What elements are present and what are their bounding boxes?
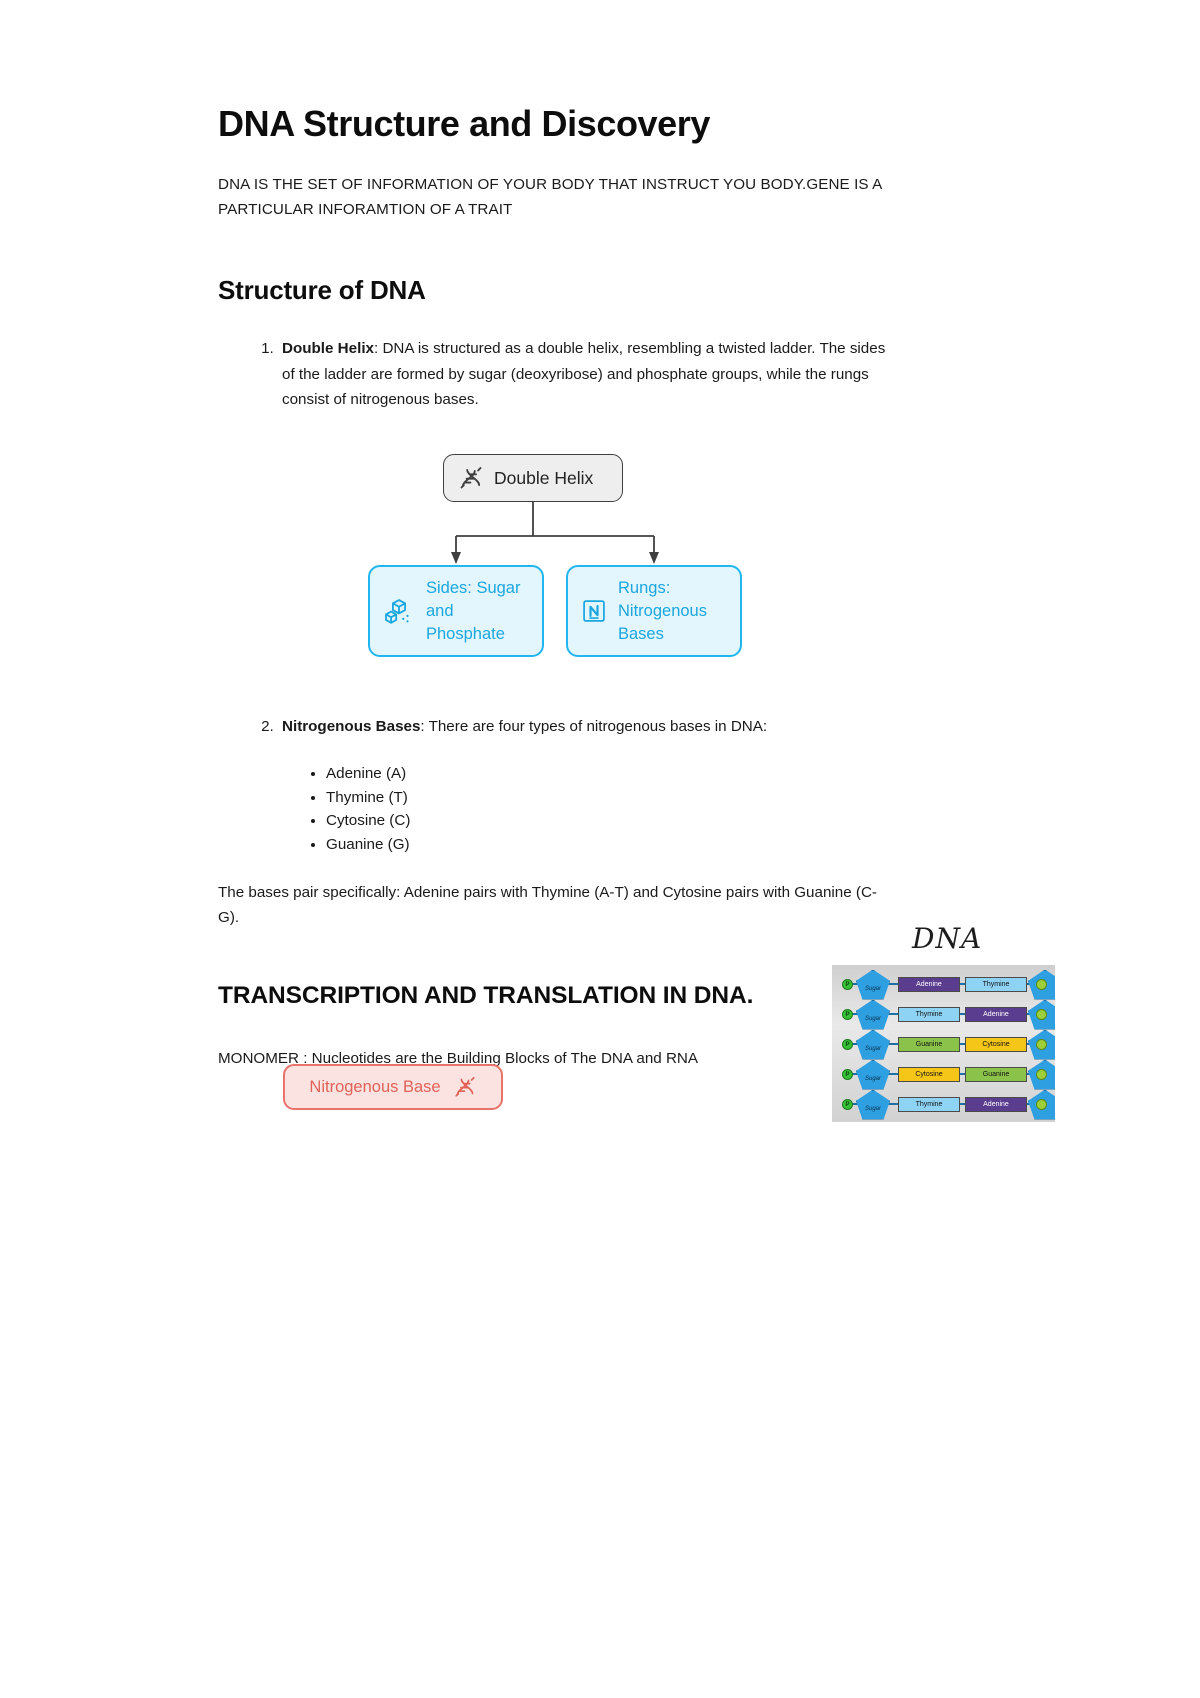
- nucleotide-row: PSugarAdenineThymine: [832, 969, 1055, 1000]
- base-label: Cytosine: [898, 1067, 960, 1082]
- base-label: Guanine: [965, 1067, 1027, 1082]
- section-heading-transcription: TRANSCRIPTION AND TRANSLATION IN DNA.: [218, 982, 753, 1010]
- phosphate-group: P: [842, 1069, 853, 1080]
- phosphate-group: P: [842, 1099, 853, 1110]
- phosphate-group: P: [842, 1009, 853, 1020]
- base-label: Thymine: [898, 1007, 960, 1022]
- list-item: Guanine (G): [326, 833, 410, 857]
- list-item-text: : There are four types of nitrogenous ba…: [420, 718, 767, 735]
- dna-illustration: DNA PSugarAdenineThymine PSugarThymineAd…: [832, 922, 1055, 1122]
- structure-list-continued: Nitrogenous Bases: There are four types …: [248, 714, 898, 740]
- nucleotide-row: PSugarThymineAdenine: [832, 999, 1055, 1030]
- phosphate-group: [1036, 1009, 1047, 1020]
- sugar-pentagon: Sugar: [856, 1030, 890, 1060]
- base-label: Guanine: [898, 1037, 960, 1052]
- nucleotide-row: PSugarGuanineCytosine: [832, 1029, 1055, 1060]
- base-label: Adenine: [965, 1097, 1027, 1112]
- flowchart-node-label: Double Helix: [494, 468, 593, 489]
- flowchart-node-label: Rungs: Nitrogenous Bases: [618, 577, 730, 646]
- intro-paragraph: DNA IS THE SET OF INFORMATION OF YOUR BO…: [218, 172, 890, 222]
- phosphate-group: P: [842, 1039, 853, 1050]
- dna-script-title: DNA: [912, 922, 982, 955]
- page-title: DNA Structure and Discovery: [218, 103, 710, 145]
- nucleotide-row: PSugarCytosineGuanine: [832, 1059, 1055, 1090]
- base-pairing-paragraph: The bases pair specifically: Adenine pai…: [218, 880, 898, 930]
- phosphate-group: [1036, 1039, 1047, 1050]
- list-item-lead: Nitrogenous Bases: [282, 718, 420, 735]
- flowchart-node-label: Sides: Sugar and Phosphate: [426, 577, 532, 646]
- list-item: Nitrogenous Bases: There are four types …: [278, 714, 898, 740]
- section-heading-structure: Structure of DNA: [218, 275, 426, 306]
- pill-label: Nitrogenous Base: [309, 1078, 440, 1097]
- structure-list: Double Helix: DNA is structured as a dou…: [248, 336, 898, 413]
- base-label: Cytosine: [965, 1037, 1027, 1052]
- flowchart-node-double-helix[interactable]: Double Helix: [443, 454, 623, 502]
- nitrogenous-bases-list: Adenine (A) Thymine (T) Cytosine (C) Gua…: [296, 762, 410, 856]
- flowchart-node-rungs[interactable]: Rungs: Nitrogenous Bases: [566, 565, 742, 657]
- cubes-icon: [382, 594, 416, 628]
- base-label: Adenine: [898, 977, 960, 992]
- list-item: Double Helix: DNA is structured as a dou…: [278, 336, 898, 413]
- boxed-n-icon: [580, 597, 608, 625]
- phosphate-group: P: [842, 979, 853, 990]
- sugar-pentagon: Sugar: [856, 1060, 890, 1090]
- phosphate-group: [1036, 979, 1047, 990]
- phosphate-group: [1036, 1069, 1047, 1080]
- list-item: Thymine (T): [326, 786, 410, 810]
- flowchart-node-sides[interactable]: Sides: Sugar and Phosphate: [368, 565, 544, 657]
- list-item-lead: Double Helix: [282, 340, 374, 357]
- nucleotide-row: PSugarThymineAdenine: [832, 1089, 1055, 1120]
- sugar-pentagon: Sugar: [856, 970, 890, 1000]
- document-page: DNA Structure and Discovery DNA IS THE S…: [0, 0, 1200, 1698]
- base-label: Adenine: [965, 1007, 1027, 1022]
- nitrogenous-base-pill[interactable]: Nitrogenous Base: [283, 1064, 503, 1110]
- phosphate-group: [1036, 1099, 1047, 1110]
- dna-nucleotide-diagram: PSugarAdenineThymine PSugarThymineAdenin…: [832, 965, 1055, 1122]
- list-item: Cytosine (C): [326, 809, 410, 833]
- double-helix-flowchart: Double Helix Sides: Sugar and Phosphate: [358, 440, 778, 670]
- dna-helix-icon: [458, 465, 484, 491]
- dna-helix-icon: [453, 1075, 477, 1099]
- base-label: Thymine: [965, 977, 1027, 992]
- sugar-pentagon: Sugar: [856, 1090, 890, 1120]
- sugar-pentagon: Sugar: [856, 1000, 890, 1030]
- list-item: Adenine (A): [326, 762, 410, 786]
- base-label: Thymine: [898, 1097, 960, 1112]
